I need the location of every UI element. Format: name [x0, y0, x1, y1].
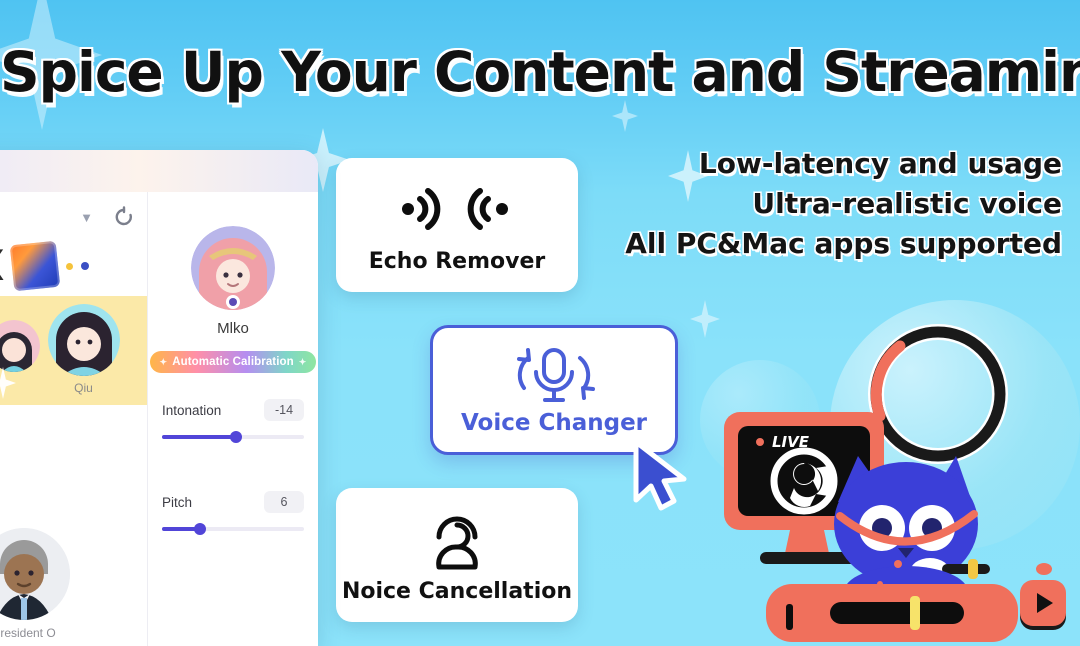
avatar [0, 528, 70, 620]
dot-decoration [81, 262, 89, 270]
list-item-label: President O [0, 626, 56, 640]
colorful-cube-icon [10, 241, 61, 292]
feature-card-voice-changer[interactable]: Voice Changer [430, 325, 678, 455]
arrow-cursor [630, 438, 700, 516]
app-window: ▼ X [0, 150, 318, 646]
slider-handle[interactable] [194, 523, 206, 535]
avatar [48, 304, 120, 376]
chevron-down-icon: ▼ [80, 210, 93, 225]
slider-track[interactable] [162, 435, 304, 439]
feature-bullet-list: Low-latency and usage Ultra-realistic vo… [625, 144, 1062, 263]
status-badge-calibration[interactable]: ✦ Automatic Calibration ✦ [150, 351, 316, 373]
page-title: Spice Up Your Content and Streaming [0, 40, 1080, 104]
voice-category-dropdown[interactable]: ▼ [0, 202, 103, 232]
slider-pitch[interactable]: Pitch 6 [148, 491, 318, 531]
character-group-card[interactable]: Qiu [0, 296, 147, 405]
refresh-icon[interactable] [113, 206, 135, 228]
slider-label: Pitch [162, 495, 192, 510]
feature-bullet: Low-latency and usage [625, 144, 1062, 184]
play-button-dot [1036, 563, 1052, 575]
feature-card-label: Echo Remover [369, 249, 546, 274]
avatar [191, 226, 275, 310]
microphone-refresh-icon [498, 344, 610, 406]
headphone-ring [876, 332, 1000, 456]
sparkle-icon [612, 100, 638, 132]
keyboard [766, 584, 1018, 642]
brand-mark: X [0, 245, 4, 287]
list-item[interactable]: Qiu [48, 304, 120, 395]
feature-card-echo-remover[interactable]: Echo Remover [336, 158, 578, 292]
person-silhouette-icon [423, 507, 491, 573]
play-button[interactable] [1020, 580, 1066, 626]
list-item-label: Qiu [74, 381, 93, 395]
sparkle-icon [690, 300, 720, 338]
sparkle-icon: ✦ [299, 357, 307, 368]
slider-track[interactable] [162, 527, 304, 531]
slider-value: 6 [264, 491, 304, 513]
slider-fill [162, 435, 236, 439]
dot-decoration [66, 263, 73, 270]
app-detail-panel: Mlko ✦ Automatic Calibration ✦ Intonatio… [148, 192, 318, 646]
slider-handle[interactable] [230, 431, 242, 443]
play-icon [1037, 593, 1053, 613]
library-brand-row: X [0, 236, 147, 292]
feature-bullet: All PC&Mac apps supported [625, 224, 1062, 264]
slider-label: Intonation [162, 403, 221, 418]
feature-card-label: Noice Cancellation [342, 579, 572, 604]
feature-bullet: Ultra-realistic voice [625, 184, 1062, 224]
slider-value: -14 [264, 399, 304, 421]
app-library-panel: ▼ X [0, 192, 148, 646]
list-item-president[interactable]: President O [0, 528, 70, 640]
app-titlebar [0, 150, 318, 192]
echo-waves-icon [398, 177, 516, 241]
feature-card-label: Voice Changer [461, 410, 647, 436]
sparkle-icon: ✦ [160, 357, 168, 368]
selected-voice-name: Mlko [148, 320, 318, 337]
status-badge-label: Automatic Calibration [172, 356, 294, 368]
feature-card-noise-cancellation[interactable]: Noice Cancellation [336, 488, 578, 622]
library-toolbar: ▼ [0, 192, 147, 236]
avatar [0, 320, 40, 372]
slider-intonation[interactable]: Intonation -14 [148, 399, 318, 439]
